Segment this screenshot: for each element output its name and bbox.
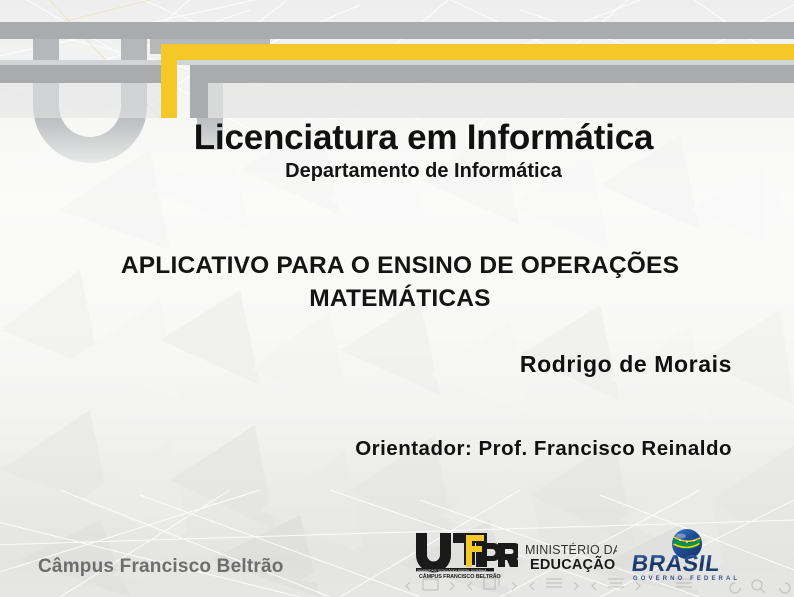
presentation-slide: Licenciatura em Informática Departamento… — [0, 0, 794, 597]
presentation-title: APLICATIVO PARA O ENSINO DE OPERAÇÕES MA… — [60, 249, 740, 316]
header-band-graphic — [0, 0, 794, 118]
utfpr-logo-icon: UNIVERSIDADE TECNOLÓGICA FEDERAL DO PARA… — [414, 531, 518, 579]
utfpr-campus-name: CÂMPUS FRANCISCO BELTRÃO — [419, 573, 501, 579]
ministry-of-education-logo-icon: MINISTÉRIO DA EDUCAÇÃO — [521, 540, 617, 574]
mec-line-1: MINISTÉRIO DA — [525, 542, 617, 557]
campus-label: Câmpus Francisco Beltrão — [38, 556, 284, 578]
mec-line-2: EDUCAÇÃO — [530, 555, 615, 573]
brasil-governo-federal-logo-icon: BRASIL GOVERNO FEDERAL — [625, 527, 747, 585]
department-subtitle: Departamento de Informática — [0, 160, 794, 183]
author-name: Rodrigo de Morais — [0, 351, 794, 378]
brasil-tagline: GOVERNO FEDERAL — [633, 576, 740, 582]
brasil-wordmark: BRASIL — [630, 550, 722, 576]
advisor-name: Orientador: Prof. Francisco Reinaldo — [0, 437, 794, 461]
course-title: Licenciatura em Informática — [0, 118, 794, 158]
